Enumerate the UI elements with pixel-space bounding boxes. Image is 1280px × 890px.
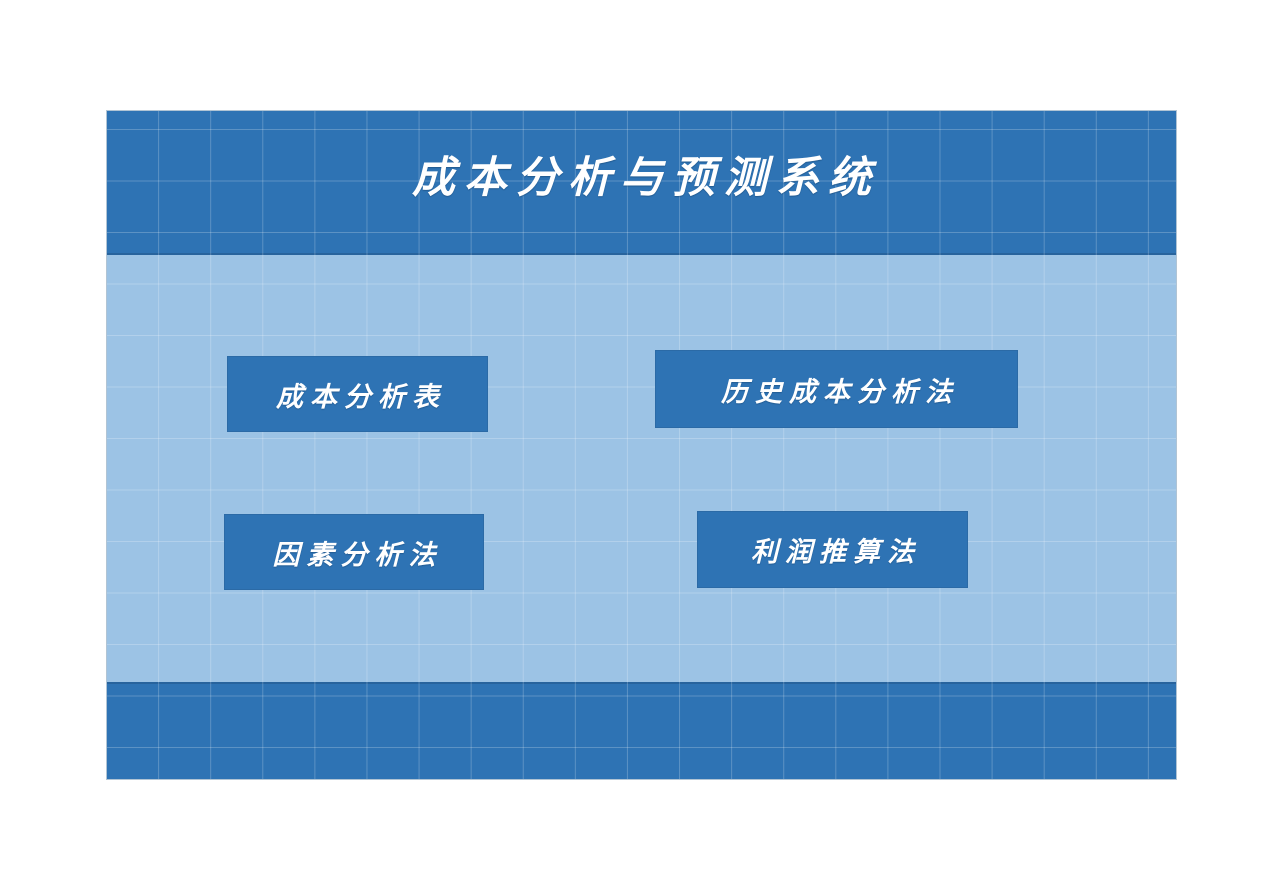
presentation-slide: 成本分析与预测系统 成本分析表 历史成本分析法 因素分析法 利润推算法: [107, 111, 1176, 779]
page-title: 成本分析与预测系统: [107, 147, 1176, 209]
menu-button-factor-analysis-method[interactable]: 因素分析法: [224, 514, 484, 590]
menu-button-cost-analysis-table[interactable]: 成本分析表: [227, 356, 488, 432]
menu-button-label: 历史成本分析法: [714, 370, 959, 409]
menu-button-historical-cost-method[interactable]: 历史成本分析法: [655, 350, 1018, 428]
menu-button-label: 利润推算法: [744, 530, 921, 569]
menu-button-label: 因素分析法: [266, 533, 443, 572]
menu-button-profit-estimation-method[interactable]: 利润推算法: [697, 511, 968, 588]
menu-button-label: 成本分析表: [269, 375, 446, 414]
footer-band: [107, 682, 1176, 779]
